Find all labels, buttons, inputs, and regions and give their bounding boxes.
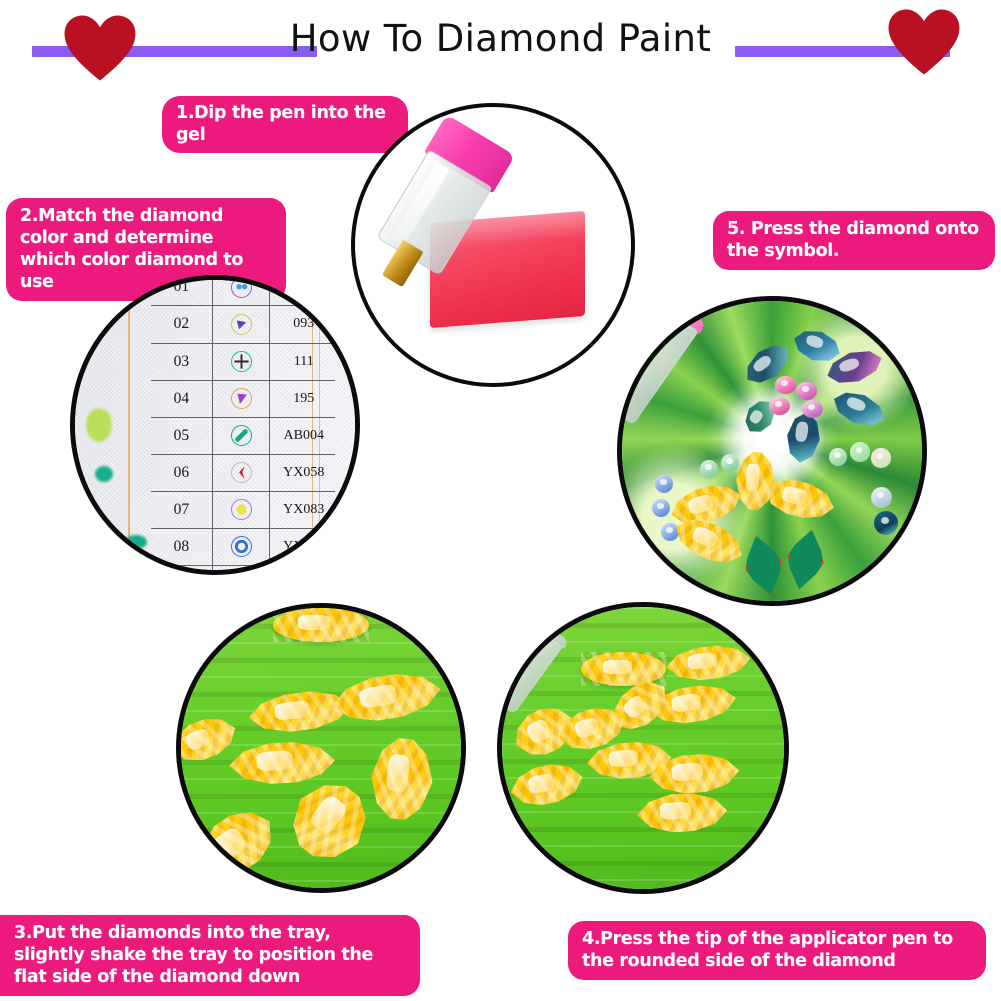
rhinestone [871, 487, 892, 508]
diamond-pressed-on-canvas-photo [622, 301, 922, 601]
rhinestone [775, 376, 796, 394]
rhinestone [829, 448, 847, 466]
chart-code: 195 [270, 391, 335, 407]
chart-number: 09 [151, 566, 213, 575]
yellow-diamond [273, 608, 368, 642]
leaf-symbol [231, 573, 252, 575]
chart-number: 07 [151, 492, 213, 528]
pen-tip [497, 689, 501, 748]
rhinestone [769, 397, 790, 415]
rhinestone [661, 523, 679, 541]
step-1-photo-circle [351, 103, 635, 387]
table-row: 03111 [151, 344, 336, 381]
table-row: 06YX058 [151, 455, 336, 492]
paint-smudge [86, 408, 112, 442]
paint-smudge [95, 466, 113, 482]
table-row: 07YX083 [151, 492, 336, 529]
step-4-label: 4.Press the tip of the applicator pen to… [568, 921, 986, 980]
chart-symbol-cell [213, 492, 270, 528]
step-4-photo-circle [497, 602, 789, 894]
chart-symbol-cell [213, 275, 270, 305]
chart-code: YX083 [270, 502, 335, 518]
chart-number: 01 [151, 275, 213, 305]
chart-number: 03 [151, 344, 213, 380]
step-2-photo-circle: 0102802093031110419505AB00406YX05807YX08… [70, 275, 360, 575]
yellow-diamond [581, 652, 666, 686]
rhinestone [652, 499, 670, 517]
ring-symbol [231, 536, 252, 557]
diamonds-in-green-tray-photo [181, 608, 461, 888]
pen-tip [617, 399, 621, 459]
rhinestone [850, 442, 870, 462]
chart-code: 093 [270, 316, 335, 332]
table-row: 09YX125 [151, 566, 336, 575]
pen-picking-up-diamond-photo [502, 607, 784, 889]
chevron-symbol [231, 462, 252, 483]
chart-symbol-cell [213, 455, 270, 491]
chart-symbol-cell [213, 381, 270, 417]
color-chart: 0102802093031110419505AB00406YX05807YX08… [151, 275, 336, 575]
chart-symbol-cell [213, 344, 270, 380]
chart-code: YX106 [270, 539, 335, 555]
rhinestone [796, 382, 817, 400]
chart-number: 08 [151, 529, 213, 565]
chart-symbol-cell [213, 418, 270, 454]
two-dots-symbol [231, 277, 252, 298]
chart-code: AB004 [270, 428, 335, 444]
rhinestone [802, 400, 823, 418]
table-row: 01028 [151, 275, 336, 306]
step-5-photo-circle [617, 296, 927, 606]
chart-code: 111 [270, 354, 335, 370]
table-row: 04195 [151, 381, 336, 418]
chart-symbol-cell [213, 566, 270, 575]
chart-number: 02 [151, 306, 213, 342]
flag-symbol [231, 388, 252, 409]
pen-dipping-into-gel-photo [355, 107, 631, 383]
page-title: How To Diamond Paint [0, 17, 1001, 60]
rhinestone [874, 511, 898, 535]
rhinestone [871, 448, 891, 468]
chart-number: 04 [151, 381, 213, 417]
filled-dot-symbol [231, 499, 252, 520]
infographic-canvas: How To Diamond Paint 1.Dip the pen into … [0, 0, 1001, 1001]
header: How To Diamond Paint [0, 0, 1001, 90]
step-5-label: 5. Press the diamond onto the symbol. [713, 211, 995, 270]
chart-code: YX058 [270, 465, 335, 481]
color-chart-table-photo: 0102802093031110419505AB00406YX05807YX08… [75, 280, 355, 570]
slash-symbol [231, 425, 252, 446]
triangle-symbol [231, 314, 252, 335]
plus-symbol [231, 351, 252, 372]
rhinestone [721, 454, 739, 472]
chart-code: 028 [270, 279, 335, 295]
table-row: 05AB004 [151, 418, 336, 455]
step-3-photo-circle [176, 603, 466, 893]
table-row: 08YX106 [151, 529, 336, 566]
rhinestone [655, 475, 673, 493]
chart-symbol-cell [213, 306, 270, 342]
chart-margin-line [128, 280, 130, 570]
chart-number: 06 [151, 455, 213, 491]
rhinestone [700, 460, 718, 478]
step-3-label: 3.Put the diamonds into the tray, slight… [0, 915, 420, 996]
chart-symbol-cell [213, 529, 270, 565]
table-row: 02093 [151, 306, 336, 343]
chart-number: 05 [151, 418, 213, 454]
